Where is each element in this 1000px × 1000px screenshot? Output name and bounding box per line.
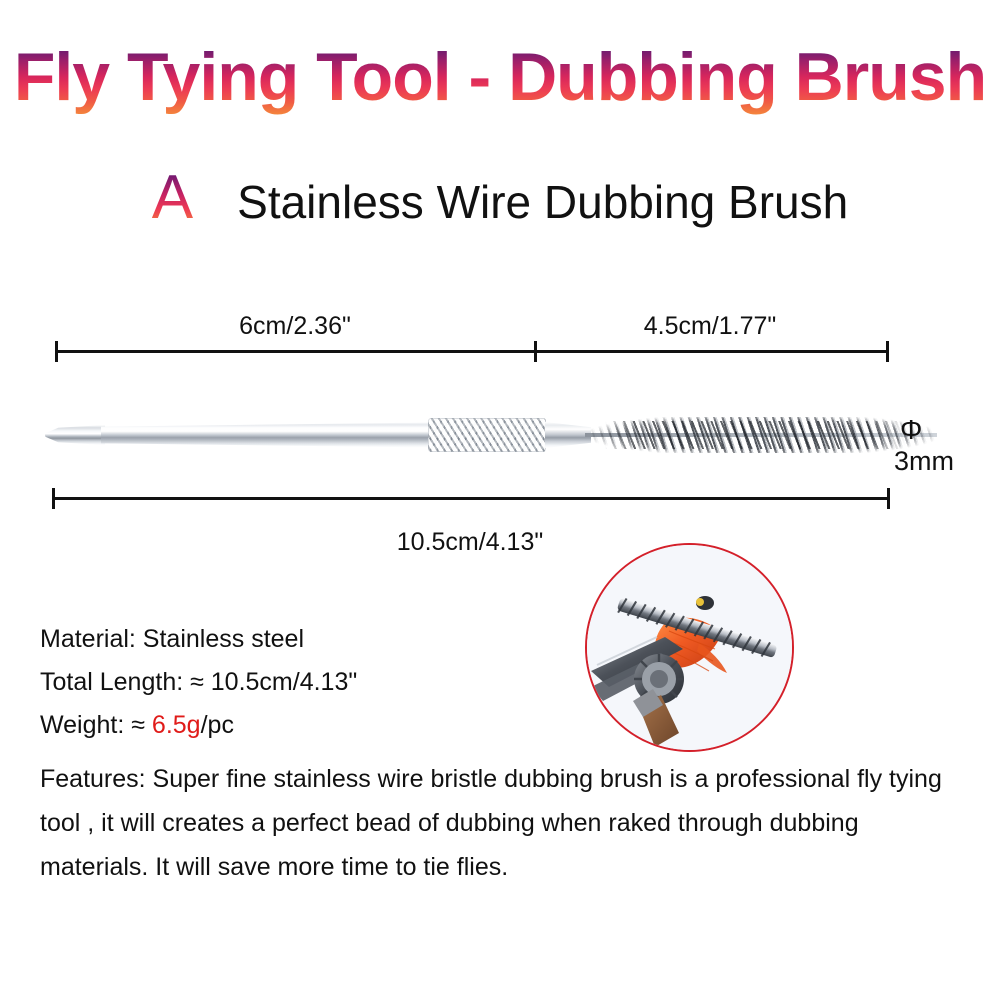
dimension-tick-left	[55, 341, 58, 362]
spec-material: Material: Stainless steel	[40, 618, 600, 661]
diameter-value-label: 3mm	[894, 445, 990, 477]
dubbing-brush-illustration	[45, 405, 905, 465]
usage-photo-inset	[585, 543, 794, 752]
features-paragraph: Features: Super fine stainless wire bris…	[40, 757, 950, 889]
brush-length-label: 4.5cm/1.77"	[570, 312, 850, 341]
spec-weight-suffix: /pc	[201, 711, 234, 739]
knurled-grip	[428, 418, 546, 452]
diameter-callout: Φ 3mm	[900, 415, 990, 477]
brush-bristles-overlay	[605, 421, 905, 449]
usage-photo-artwork	[587, 545, 792, 750]
total-length-tick-right	[887, 488, 890, 509]
handle-shaft	[101, 422, 431, 448]
spec-total-length: Total Length: ≈ 10.5cm/4.13"	[40, 661, 600, 704]
handle-length-label: 6cm/2.36"	[150, 312, 440, 341]
spec-list: Material: Stainless steel Total Length: …	[40, 618, 600, 747]
variant-letter-badge: A	[152, 163, 193, 233]
diameter-symbol-icon: Φ	[900, 415, 990, 445]
variant-heading: A Stainless Wire Dubbing Brush	[0, 163, 1000, 237]
total-length-label: 10.5cm/4.13"	[320, 528, 620, 557]
dimension-tick-right	[886, 341, 889, 362]
spec-weight-prefix: Weight: ≈	[40, 711, 152, 739]
page-title: Fly Tying Tool - Dubbing Brush	[0, 36, 1000, 118]
spec-weight-value: 6.5g	[152, 711, 201, 739]
dimension-tick-middle	[534, 341, 537, 362]
spec-weight: Weight: ≈ 6.5g/pc	[40, 704, 600, 747]
segment-dimension-line	[55, 350, 889, 353]
total-length-dimension-line	[52, 497, 890, 500]
variant-name: Stainless Wire Dubbing Brush	[237, 167, 848, 237]
handle-tapered-tip	[45, 425, 105, 445]
total-length-tick-left	[52, 488, 55, 509]
